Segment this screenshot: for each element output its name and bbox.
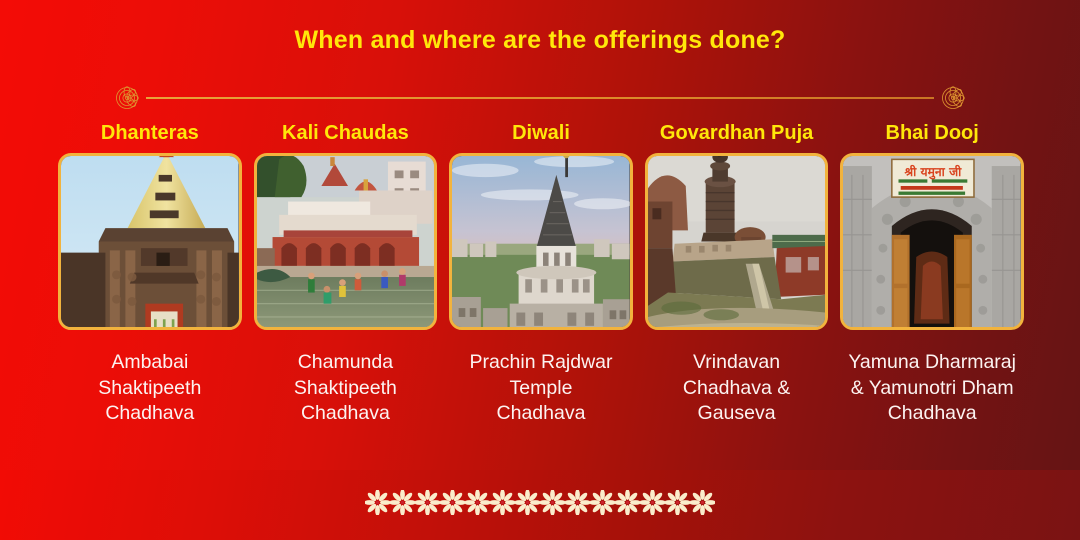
card-heading: Govardhan Puja (660, 122, 813, 144)
eight-petal-flower-icon (665, 490, 690, 520)
eight-petal-flower-icon (565, 490, 590, 520)
yamuna-temple-entrance-photo: श्री यमुना जी (840, 153, 1024, 330)
card-caption: Chamunda Shaktipeeth Chadhava (294, 350, 397, 427)
eight-petal-flower-icon (465, 490, 490, 520)
festival-card-row: Dhanteras (58, 122, 1024, 427)
festival-card-kali-chaudas[interactable]: Kali Chaudas (254, 122, 438, 427)
eight-petal-flower-icon (490, 490, 515, 520)
card-caption: Yamuna Dharmaraj & Yamunotri Dham Chadha… (848, 350, 1016, 427)
vrindavan-temple-photo (645, 153, 829, 330)
svg-text:श्री यमुना जी: श्री यमुना जी (904, 164, 963, 180)
eight-petal-flower-icon (540, 490, 565, 520)
decorative-divider (112, 82, 968, 114)
card-heading: Bhai Dooj (886, 122, 979, 144)
card-caption: Prachin Rajdwar Temple Chadhava (469, 350, 612, 427)
mandala-rosette-icon (938, 83, 968, 113)
eight-petal-flower-icon (365, 490, 390, 520)
eight-petal-flower-icon (390, 490, 415, 520)
eight-petal-flower-icon (640, 490, 665, 520)
card-heading: Diwali (512, 122, 570, 144)
prachin-rajdwar-temple-photo (449, 153, 633, 330)
footer-band (0, 470, 1080, 540)
eight-petal-flower-icon (590, 490, 615, 520)
eight-petal-flower-icon (440, 490, 465, 520)
eight-petal-flower-icon (615, 490, 640, 520)
festival-card-diwali[interactable]: Diwali (449, 122, 633, 427)
eight-petal-flower-icon (690, 490, 715, 520)
card-caption: Vrindavan Chadhava & Gauseva (683, 350, 790, 427)
eight-petal-flower-icon (415, 490, 440, 520)
flower-divider (0, 470, 1080, 540)
festival-card-bhai-dooj[interactable]: Bhai Dooj (840, 122, 1024, 427)
festival-card-govardhan-puja[interactable]: Govardhan Puja (645, 122, 829, 427)
chamunda-shaktipeeth-photo (254, 153, 438, 330)
ambabai-temple-photo (58, 153, 242, 330)
eight-petal-flower-icon (515, 490, 540, 520)
divider-rule (146, 97, 934, 99)
card-caption: Ambabai Shaktipeeth Chadhava (98, 350, 201, 427)
mandala-rosette-icon (112, 83, 142, 113)
card-heading: Dhanteras (101, 122, 199, 144)
festival-card-dhanteras[interactable]: Dhanteras (58, 122, 242, 427)
card-heading: Kali Chaudas (282, 122, 409, 144)
page-title: When and where are the offerings done? (0, 26, 1080, 55)
